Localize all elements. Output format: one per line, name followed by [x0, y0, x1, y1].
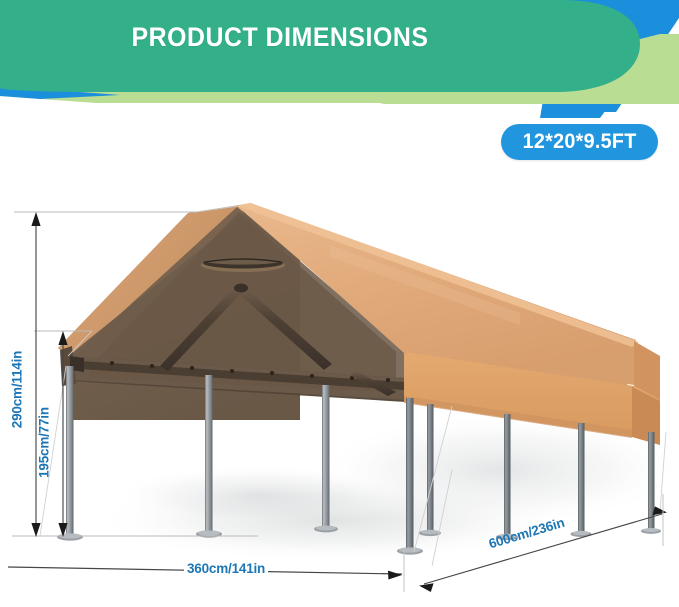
- dimension-label-width: 360cm/141in: [184, 561, 268, 576]
- infographic-canvas: PRODUCT DIMENSIONS 12*20*9.5FT: [0, 0, 679, 607]
- canopy-roof: [58, 203, 660, 445]
- ground-shadow: [90, 414, 679, 562]
- product-illustration: [0, 0, 679, 607]
- dimension-label-height-eave: 195cm/77in: [37, 393, 52, 493]
- roof-vent: [201, 257, 285, 272]
- dimension-label-height-overall: 290cm/114in: [10, 340, 25, 440]
- frame-peak-connector: [234, 284, 248, 293]
